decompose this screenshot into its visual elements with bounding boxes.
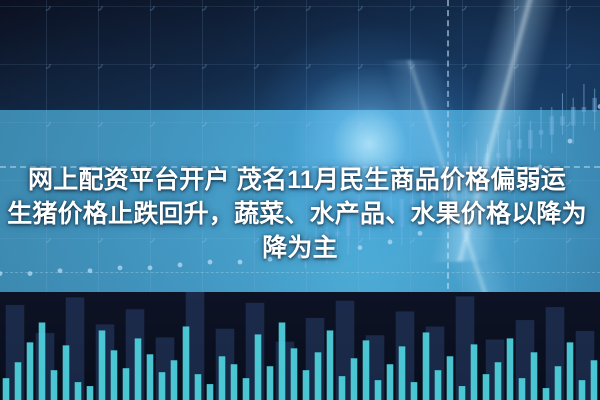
ghost-column [546, 307, 565, 400]
candle-body [550, 116, 555, 134]
bar [507, 338, 514, 400]
ghost-column [306, 318, 325, 400]
bar [459, 386, 466, 400]
bar [375, 380, 382, 400]
bar [63, 345, 70, 400]
ghost-column [66, 297, 85, 400]
bar [363, 340, 370, 400]
candle-body [496, 153, 501, 158]
trend-dot [148, 265, 153, 270]
bar [255, 334, 262, 400]
background-bottom-strip [0, 292, 600, 400]
bar [483, 374, 490, 400]
headline: 网上配资平台开户 茂名11月民生商品价格偏弱运 生猪价格止跌回升，蔬菜、水产品、… [0, 163, 600, 265]
bar [543, 388, 550, 400]
candle-body [560, 116, 565, 125]
ghost-column [156, 337, 175, 400]
bar [15, 362, 22, 400]
bar [315, 352, 322, 400]
bar [231, 364, 238, 400]
bar [51, 370, 58, 400]
ghost-column [126, 309, 145, 400]
trend-dot [568, 139, 573, 144]
ghost-column [246, 303, 265, 400]
ghost-column [36, 333, 55, 400]
bar [519, 378, 526, 400]
trend-dot [88, 268, 93, 273]
trend-dot [0, 271, 2, 276]
trend-dot [28, 271, 33, 276]
bar [207, 384, 214, 400]
bar [243, 378, 250, 400]
news-banner: 网上配资平台开户 茂名11月民生商品价格偏弱运 生猪价格止跌回升，蔬菜、水产品、… [0, 0, 600, 400]
volume-bar-chart [0, 292, 600, 400]
bar [123, 368, 130, 400]
bar [591, 360, 598, 400]
bar [87, 386, 94, 400]
ghost-column [576, 331, 595, 400]
headline-line-1: 网上配资平台开户 茂名11月民生商品价格偏弱运 [0, 163, 600, 197]
ghost-column [6, 305, 25, 400]
bar [111, 350, 118, 400]
bar [135, 338, 142, 400]
ghost-column [186, 292, 205, 400]
bar [387, 364, 394, 400]
bar [75, 382, 82, 400]
trend-dot [58, 268, 63, 273]
headline-line-2: 生猪价格止跌回升，蔬菜、水产品、水果价格以降为 [0, 197, 600, 231]
candle-body [528, 130, 533, 148]
candle-body [592, 98, 597, 112]
bar [435, 370, 442, 400]
ghost-column [96, 324, 115, 400]
ghost-column [426, 327, 445, 400]
bar [471, 344, 478, 400]
bar [447, 356, 454, 400]
bar [399, 346, 406, 400]
bar [327, 330, 334, 400]
bar [219, 356, 226, 400]
bar [27, 342, 34, 400]
bar [183, 326, 190, 400]
bar [423, 332, 430, 400]
candle-body [517, 139, 522, 148]
headline-line-3: 降为主 [0, 231, 600, 265]
ghost-column [486, 340, 505, 400]
ghost-column [456, 296, 475, 400]
bar [279, 323, 286, 400]
candle-body [582, 107, 587, 112]
bar [555, 366, 562, 400]
ghost-column [336, 301, 355, 400]
candle-body [507, 139, 512, 157]
candle-body [571, 107, 576, 125]
ghost-column [276, 342, 295, 400]
trend-dot [118, 265, 123, 270]
bar [495, 362, 502, 400]
bar [351, 358, 358, 400]
bar [195, 374, 202, 400]
bar [291, 348, 298, 400]
ghost-column [366, 335, 385, 400]
ghost-column [516, 320, 535, 400]
candle-body [539, 130, 544, 135]
ghost-column-chart [0, 292, 600, 400]
bar [147, 354, 154, 400]
bar [171, 360, 178, 400]
bar [3, 378, 10, 400]
bar [531, 352, 538, 400]
bar [339, 376, 346, 400]
bar [159, 372, 166, 400]
dashed-guide-horizontal-2 [0, 272, 600, 273]
bar [411, 382, 418, 400]
bar [579, 380, 586, 400]
ghost-column [396, 311, 415, 400]
ghost-column [216, 329, 235, 400]
bar [39, 323, 46, 400]
bar [267, 366, 274, 400]
bar [303, 370, 310, 400]
bar [567, 342, 574, 400]
bar [99, 330, 106, 400]
